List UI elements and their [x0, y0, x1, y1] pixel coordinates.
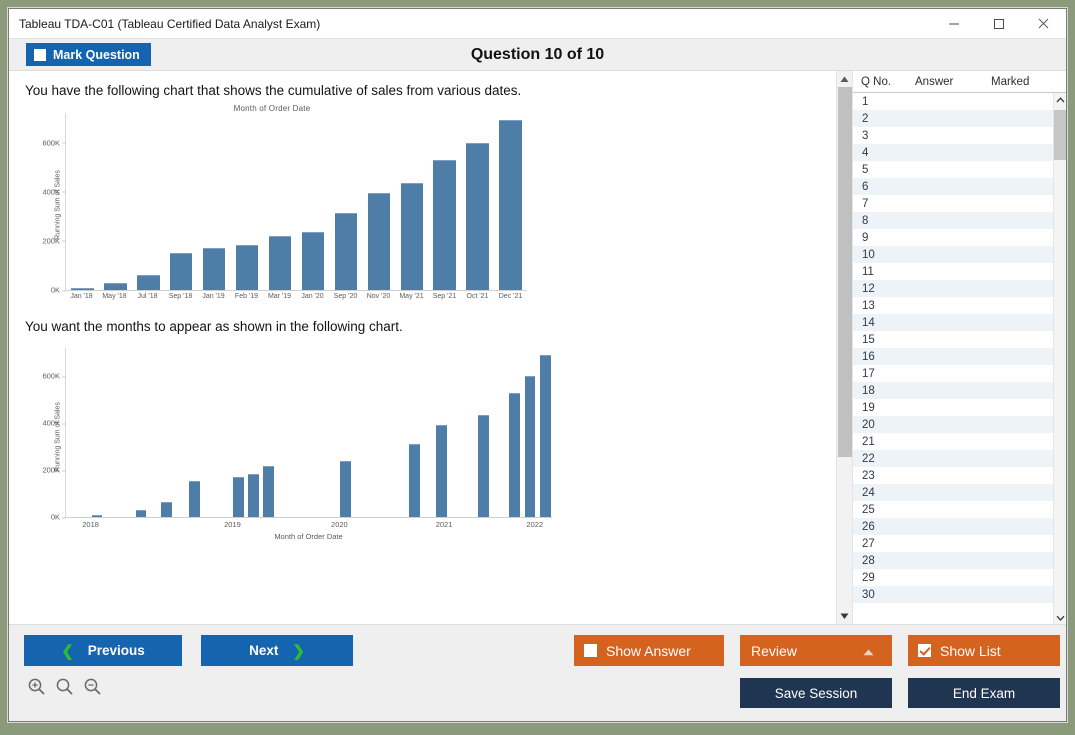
- show-answer-button[interactable]: Show Answer: [574, 635, 724, 666]
- question-list-row[interactable]: 24: [853, 484, 1053, 501]
- chart-2-bar: [248, 474, 259, 517]
- question-list-header: Q No. Answer Marked: [853, 71, 1066, 93]
- question-row-number: 23: [853, 470, 913, 482]
- minimize-icon: [948, 18, 960, 30]
- question-list-row[interactable]: 6: [853, 178, 1053, 195]
- qlist-scroll-down-button[interactable]: [1054, 611, 1067, 624]
- maximize-button[interactable]: [976, 9, 1021, 38]
- question-list-row[interactable]: 2: [853, 110, 1053, 127]
- question-list-row[interactable]: 11: [853, 263, 1053, 280]
- question-row-number: 26: [853, 521, 913, 533]
- question-list-row[interactable]: 14: [853, 314, 1053, 331]
- save-session-label: Save Session: [775, 686, 858, 701]
- close-button[interactable]: [1021, 9, 1066, 38]
- column-header-answer: Answer: [915, 76, 991, 88]
- chart-1-bar: [170, 253, 192, 290]
- chart-1-x-label: Sep '20: [334, 293, 358, 300]
- chart-2-bar: [233, 477, 244, 517]
- chart-2-bar: [189, 481, 200, 517]
- review-dropdown[interactable]: Review: [740, 635, 892, 666]
- chart-2-x-tick-labels: 20182019202020212022: [65, 518, 552, 532]
- qlist-scroll-thumb[interactable]: [1054, 110, 1067, 160]
- content-scroll-down-button[interactable]: [837, 608, 853, 624]
- question-list-row[interactable]: 3: [853, 127, 1053, 144]
- chart-2-bar: [263, 466, 274, 517]
- chart-1-x-label: Sep '18: [169, 293, 193, 300]
- chart-2-plot-area: 0K200K400K600K: [65, 348, 552, 518]
- chart-1-bar: [401, 183, 423, 290]
- chart-2-x-label: 2019: [224, 520, 241, 529]
- question-list-row[interactable]: 20: [853, 416, 1053, 433]
- zoom-out-icon: [83, 677, 102, 696]
- qlist-scroll-track[interactable]: [1054, 106, 1067, 611]
- question-row-number: 29: [853, 572, 913, 584]
- chart-1-y-tick: 0K: [51, 286, 66, 295]
- title-bar: Tableau TDA-C01 (Tableau Certified Data …: [9, 9, 1066, 39]
- chart-1-bar: [302, 232, 324, 291]
- chart-1-x-label: Dec '21: [499, 293, 523, 300]
- question-list-row[interactable]: 13: [853, 297, 1053, 314]
- chart-1-y-axis-label: Running Sum of Sales: [54, 170, 61, 240]
- chart-1-bar: [466, 143, 488, 291]
- chart-2-y-axis-label: Running Sum of Sales: [54, 402, 61, 472]
- chart-1-bar: [335, 213, 357, 290]
- question-list-row[interactable]: 5: [853, 161, 1053, 178]
- question-row-number: 9: [853, 232, 913, 244]
- question-list-row[interactable]: 1: [853, 93, 1053, 110]
- zoom-in-button[interactable]: [27, 677, 46, 701]
- show-answer-checkbox-icon[interactable]: [584, 644, 597, 657]
- chart-2-bar: [161, 502, 172, 517]
- save-session-button[interactable]: Save Session: [740, 678, 892, 708]
- question-row-number: 18: [853, 385, 913, 397]
- content-scroll-track[interactable]: [837, 87, 853, 608]
- mark-question-checkbox-icon[interactable]: [34, 49, 46, 61]
- question-list-row[interactable]: 25: [853, 501, 1053, 518]
- question-list-scrollbar[interactable]: [1053, 93, 1066, 624]
- question-list-row[interactable]: 17: [853, 365, 1053, 382]
- question-list-row[interactable]: 10: [853, 246, 1053, 263]
- chart-2-bars: [66, 348, 552, 517]
- question-list-row[interactable]: 4: [853, 144, 1053, 161]
- caret-down-icon: [840, 613, 849, 620]
- chart-2-bar: [409, 444, 420, 517]
- footer-toolbar: ❮ Previous Next ❯ Show Answer Review Sho…: [9, 625, 1066, 721]
- review-label: Review: [751, 643, 797, 659]
- next-button[interactable]: Next ❯: [201, 635, 353, 666]
- chart-1-bar: [269, 236, 291, 290]
- question-list-row[interactable]: 26: [853, 518, 1053, 535]
- previous-button[interactable]: ❮ Previous: [24, 635, 182, 666]
- question-list-row[interactable]: 18: [853, 382, 1053, 399]
- chart-1-x-label: Nov '20: [367, 293, 391, 300]
- column-header-q-no: Q No.: [853, 76, 915, 88]
- chart-2-bar: [509, 393, 520, 517]
- chart-1-y-tick: 600K: [42, 138, 66, 147]
- chart-1-x-label: Jan '18: [70, 293, 92, 300]
- end-exam-button[interactable]: End Exam: [908, 678, 1060, 708]
- caret-up-icon: [863, 643, 874, 659]
- chart-1-y-tick: 200K: [42, 236, 66, 245]
- column-header-marked: Marked: [991, 76, 1061, 88]
- chart-2-bar: [478, 415, 489, 517]
- question-row-number: 1: [853, 96, 913, 108]
- question-list-row[interactable]: 29: [853, 569, 1053, 586]
- question-list-row[interactable]: 16: [853, 348, 1053, 365]
- question-content-pane: You have the following chart that shows …: [9, 71, 836, 624]
- question-row-number: 21: [853, 436, 913, 448]
- chart-1-title: Month of Order Date: [17, 104, 527, 113]
- zoom-in-icon: [27, 677, 46, 696]
- question-row-number: 15: [853, 334, 913, 346]
- chart-1-x-label: Oct '21: [467, 293, 489, 300]
- question-list-body: 1234567891011121314151617181920212223242…: [853, 93, 1066, 624]
- chevron-left-icon: ❮: [61, 642, 74, 660]
- question-row-number: 10: [853, 249, 913, 261]
- show-answer-label: Show Answer: [606, 643, 691, 659]
- question-row-number: 25: [853, 504, 913, 516]
- chart-2-y-tick: 0K: [51, 513, 66, 522]
- chart-1-x-label: Mar '19: [268, 293, 291, 300]
- chevron-right-icon: ❯: [292, 642, 305, 660]
- show-list-label: Show List: [940, 643, 1001, 659]
- chart-2-bar: [92, 515, 103, 517]
- question-row-number: 6: [853, 181, 913, 193]
- chart-1-x-label: May '21: [399, 293, 423, 300]
- question-row-number: 30: [853, 589, 913, 601]
- chart-1-bars: [66, 113, 527, 290]
- chart-2-y-tick: 200K: [42, 466, 66, 475]
- question-list-row[interactable]: 22: [853, 450, 1053, 467]
- question-row-number: 17: [853, 368, 913, 380]
- chart-2-y-tick: 400K: [42, 419, 66, 428]
- chart-1-plot-area: 0K200K400K600K: [65, 113, 527, 291]
- chart-1-bar: [104, 283, 126, 290]
- chart-1-x-label: Feb '19: [235, 293, 258, 300]
- content-scroll-up-button[interactable]: [837, 71, 853, 87]
- question-list-row[interactable]: 28: [853, 552, 1053, 569]
- zoom-reset-icon: [55, 677, 74, 696]
- question-list-row[interactable]: 7: [853, 195, 1053, 212]
- chart-2-y-tick: 600K: [42, 372, 66, 381]
- question-row-number: 27: [853, 538, 913, 550]
- chart-2-bar: [340, 461, 351, 517]
- chart-2: Running Sum of Sales 0K200K400K600K 2018…: [17, 348, 552, 541]
- chart-1-bar: [137, 275, 159, 290]
- previous-label: Previous: [88, 643, 145, 658]
- question-row-number: 2: [853, 113, 913, 125]
- chart-1-x-label: Jan '20: [301, 293, 323, 300]
- chart-1-bar: [203, 248, 225, 290]
- qlist-scroll-up-button[interactable]: [1054, 93, 1067, 106]
- next-label: Next: [249, 643, 278, 658]
- window-title: Tableau TDA-C01 (Tableau Certified Data …: [9, 17, 320, 31]
- close-icon: [1037, 17, 1050, 30]
- zoom-reset-button[interactable]: [55, 677, 74, 701]
- question-list-row[interactable]: 12: [853, 280, 1053, 297]
- question-row-number: 12: [853, 283, 913, 295]
- caret-up-glyph: [863, 649, 874, 656]
- chart-1-x-label: May '18: [102, 293, 126, 300]
- maximize-icon: [993, 18, 1005, 30]
- exam-application-window: Tableau TDA-C01 (Tableau Certified Data …: [8, 8, 1067, 722]
- question-row-number: 19: [853, 402, 913, 414]
- caret-up-icon: [840, 76, 849, 83]
- chart-2-bar: [540, 355, 551, 517]
- chart-1-bar: [433, 160, 455, 290]
- zoom-out-button[interactable]: [83, 677, 102, 701]
- chart-1: Month of Order Date Running Sum of Sales…: [17, 104, 527, 305]
- question-list-row[interactable]: 9: [853, 229, 1053, 246]
- chart-1-x-tick-labels: Jan '18May '18Jul '18Sep '18Jan '19Feb '…: [65, 291, 527, 305]
- chart-2-x-label: 2022: [526, 520, 543, 529]
- question-row-number: 5: [853, 164, 913, 176]
- question-list-row[interactable]: 23: [853, 467, 1053, 484]
- question-row-number: 28: [853, 555, 913, 567]
- question-row-number: 14: [853, 317, 913, 329]
- question-row-number: 16: [853, 351, 913, 363]
- question-row-number: 8: [853, 215, 913, 227]
- mark-question-button[interactable]: Mark Question: [26, 43, 151, 66]
- chart-2-bar: [136, 510, 147, 517]
- minimize-button[interactable]: [931, 9, 976, 38]
- question-counter: Question 10 of 10: [9, 46, 1066, 64]
- question-row-number: 4: [853, 147, 913, 159]
- chart-1-bar: [236, 245, 258, 290]
- question-paragraph-2: You want the months to appear as shown i…: [9, 319, 836, 334]
- question-row-number: 3: [853, 130, 913, 142]
- chart-1-bar: [368, 193, 390, 290]
- question-list-row[interactable]: 8: [853, 212, 1053, 229]
- zoom-toolbar: [27, 677, 102, 701]
- body-area: You have the following chart that shows …: [9, 71, 1066, 625]
- chart-2-x-label: 2021: [436, 520, 453, 529]
- question-list-row[interactable]: 30: [853, 586, 1053, 603]
- content-scroll-thumb[interactable]: [838, 87, 852, 457]
- chart-2-bar: [525, 376, 536, 517]
- show-list-checkbox-icon[interactable]: [918, 644, 931, 657]
- chevron-up-icon: [1056, 97, 1065, 103]
- chart-1-x-label: Sep '21: [433, 293, 457, 300]
- content-scrollbar[interactable]: [836, 71, 852, 624]
- question-row-number: 7: [853, 198, 913, 210]
- chart-1-x-label: Jul '18: [137, 293, 157, 300]
- question-list-row[interactable]: 27: [853, 535, 1053, 552]
- question-list-rows[interactable]: 1234567891011121314151617181920212223242…: [853, 93, 1053, 624]
- chart-2-bar: [436, 425, 447, 517]
- chart-2-x-axis-label: Month of Order Date: [65, 532, 552, 541]
- mark-question-label: Mark Question: [53, 48, 140, 62]
- question-paragraph-1: You have the following chart that shows …: [9, 83, 836, 98]
- question-list-pane: Q No. Answer Marked 12345678910111213141…: [852, 71, 1066, 624]
- question-list-row[interactable]: 19: [853, 399, 1053, 416]
- question-row-number: 24: [853, 487, 913, 499]
- question-list-row[interactable]: 21: [853, 433, 1053, 450]
- question-header-bar: Mark Question Question 10 of 10: [9, 39, 1066, 71]
- chart-1-y-tick: 400K: [42, 187, 66, 196]
- chart-1-x-label: Jan '19: [202, 293, 224, 300]
- chart-1-bar: [71, 288, 93, 290]
- chart-1-bar: [499, 120, 521, 290]
- chart-2-x-label: 2018: [82, 520, 99, 529]
- chart-2-x-label: 2020: [331, 520, 348, 529]
- question-row-number: 20: [853, 419, 913, 431]
- chevron-down-icon: [1056, 615, 1065, 621]
- question-row-number: 22: [853, 453, 913, 465]
- show-list-button[interactable]: Show List: [908, 635, 1060, 666]
- question-row-number: 13: [853, 300, 913, 312]
- question-list-row[interactable]: 15: [853, 331, 1053, 348]
- question-row-number: 11: [853, 266, 913, 278]
- end-exam-label: End Exam: [953, 686, 1015, 701]
